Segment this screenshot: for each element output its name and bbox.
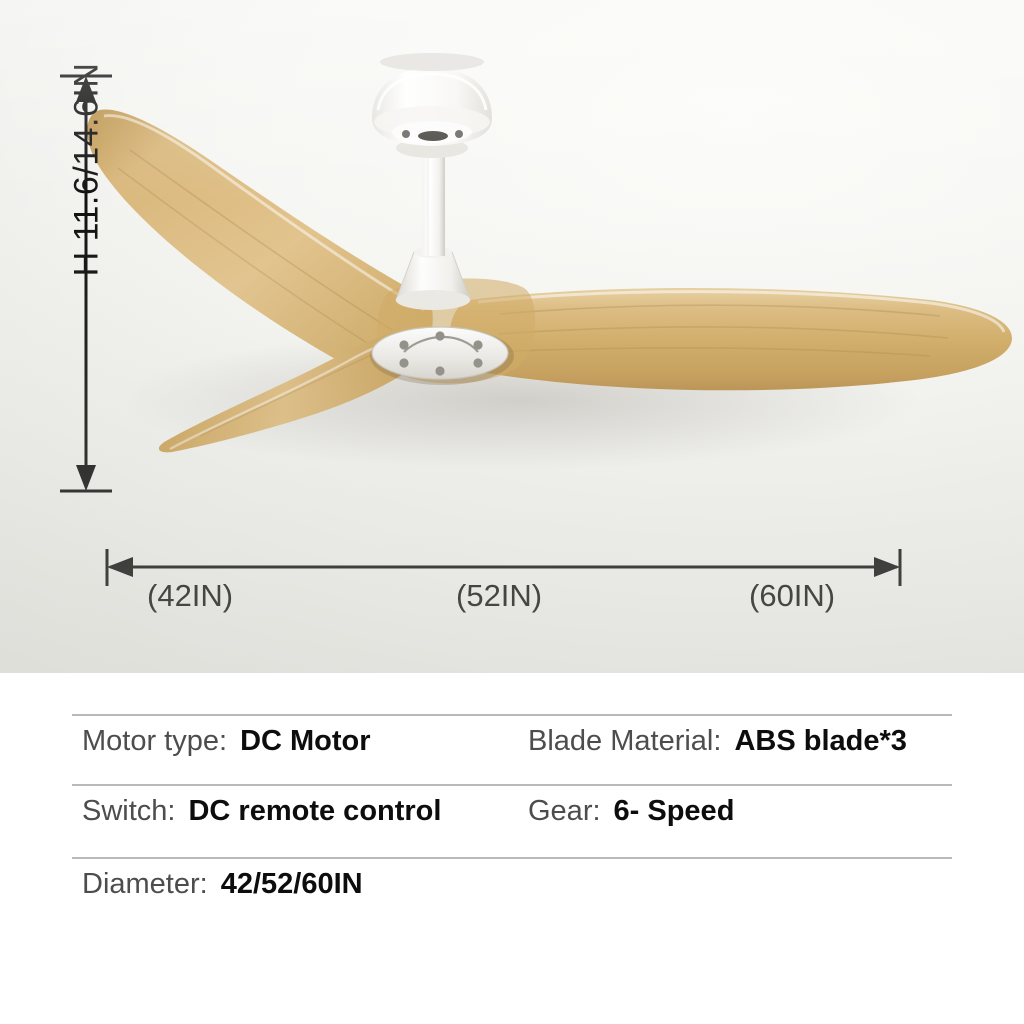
spec-label: Gear: bbox=[528, 795, 601, 828]
spec-value: 42/52/60IN bbox=[221, 868, 363, 901]
spec-divider-2 bbox=[72, 857, 952, 859]
product-spec-image: H 11.6/14.6IN (42IN) (52IN) (60IN) Motor… bbox=[0, 0, 1024, 1024]
fan-hub-plate bbox=[370, 327, 514, 385]
specification-panel: Motor type: DC Motor Blade Material: ABS… bbox=[0, 673, 1024, 1024]
spec-value: ABS blade*3 bbox=[734, 725, 906, 758]
spec-row: Motor type: DC Motor Blade Material: ABS… bbox=[0, 725, 1024, 785]
downrod bbox=[422, 152, 445, 256]
ceiling-canopy bbox=[372, 53, 492, 158]
spec-value: DC Motor bbox=[240, 725, 370, 758]
ceiling-fan-illustration bbox=[0, 0, 1024, 673]
spec-label: Motor type: bbox=[82, 725, 227, 758]
width-label-42in: (42IN) bbox=[147, 578, 233, 614]
spec-blade-material: Blade Material: ABS blade*3 bbox=[528, 725, 907, 758]
spec-label: Switch: bbox=[82, 795, 175, 828]
spec-divider-top bbox=[72, 714, 952, 716]
spec-motor-type: Motor type: DC Motor bbox=[82, 725, 371, 758]
spec-diameter: Diameter: 42/52/60IN bbox=[82, 868, 363, 901]
fan-blade-right bbox=[449, 288, 1012, 390]
spec-row: Diameter: 42/52/60IN bbox=[0, 868, 1024, 928]
spec-value: DC remote control bbox=[188, 795, 441, 828]
spec-row: Switch: DC remote control Gear: 6- Speed bbox=[0, 795, 1024, 855]
spec-label: Blade Material: bbox=[528, 725, 721, 758]
width-label-60in: (60IN) bbox=[749, 578, 835, 614]
height-dimension-label: H 11.6/14.6IN bbox=[68, 0, 107, 385]
spec-value: 6- Speed bbox=[614, 795, 735, 828]
fan-photo: H 11.6/14.6IN (42IN) (52IN) (60IN) bbox=[0, 0, 1024, 673]
width-label-52in: (52IN) bbox=[456, 578, 542, 614]
spec-gear: Gear: 6- Speed bbox=[528, 795, 734, 828]
spec-switch: Switch: DC remote control bbox=[82, 795, 441, 828]
spec-label: Diameter: bbox=[82, 868, 208, 901]
